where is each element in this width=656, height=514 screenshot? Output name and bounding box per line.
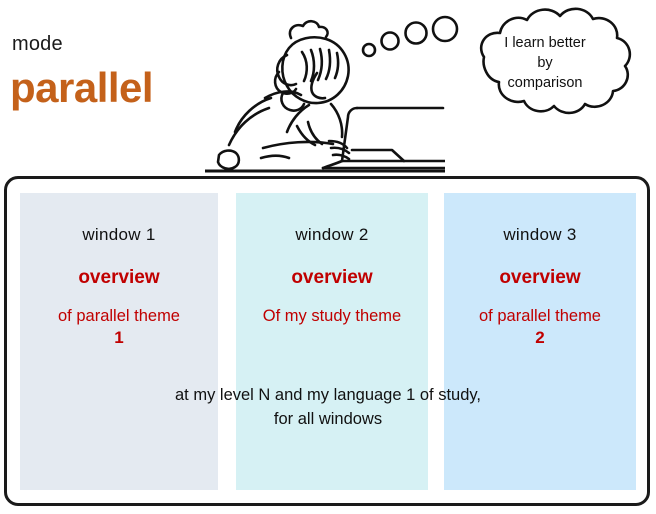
window-2-subtitle-line: Of my study bbox=[263, 307, 351, 325]
window-2-subtitle: Of my study theme bbox=[236, 305, 428, 327]
thought-bubble-line-1: I learn better bbox=[470, 33, 620, 53]
thought-bubble-line-2: by bbox=[470, 53, 620, 73]
window-1-title: window 1 bbox=[20, 225, 218, 245]
window-panel-1[interactable]: window 1 overview of parallel theme 1 bbox=[20, 193, 218, 490]
shared-caption: at my level N and my language 1 of study… bbox=[60, 383, 596, 431]
window-1-subtitle-emphasis: 1 bbox=[24, 327, 214, 349]
window-2-overview-label: overview bbox=[236, 267, 428, 289]
window-3-subtitle-line: of parallel theme bbox=[479, 307, 601, 325]
window-panel-3[interactable]: window 3 overview of parallel theme 2 bbox=[444, 193, 636, 490]
window-3-subtitle-emphasis: 2 bbox=[448, 327, 632, 349]
windows-row: window 1 overview of parallel theme 1 wi… bbox=[20, 193, 636, 490]
window-2-subtitle-emphasis: theme bbox=[355, 307, 401, 325]
shared-caption-line-1: at my level N and my language 1 of study… bbox=[60, 383, 596, 407]
window-1-overview-label: overview bbox=[20, 267, 218, 289]
mode-value-parallel: parallel bbox=[10, 64, 153, 112]
thought-bubble-line-3: comparison bbox=[470, 73, 620, 93]
window-3-overview-label: overview bbox=[444, 267, 636, 289]
window-3-title: window 3 bbox=[444, 225, 636, 245]
window-panel-2[interactable]: window 2 overview Of my study theme bbox=[236, 193, 428, 490]
mode-label: mode bbox=[12, 33, 63, 56]
window-1-subtitle: of parallel theme 1 bbox=[20, 305, 218, 349]
thought-bubble-text: I learn better by comparison bbox=[470, 33, 620, 93]
shared-caption-line-2: for all windows bbox=[60, 407, 596, 431]
header-area: mode parallel bbox=[0, 0, 656, 175]
window-2-title: window 2 bbox=[236, 225, 428, 245]
window-1-subtitle-line: of parallel theme bbox=[58, 307, 180, 325]
window-3-subtitle: of parallel theme 2 bbox=[444, 305, 636, 349]
